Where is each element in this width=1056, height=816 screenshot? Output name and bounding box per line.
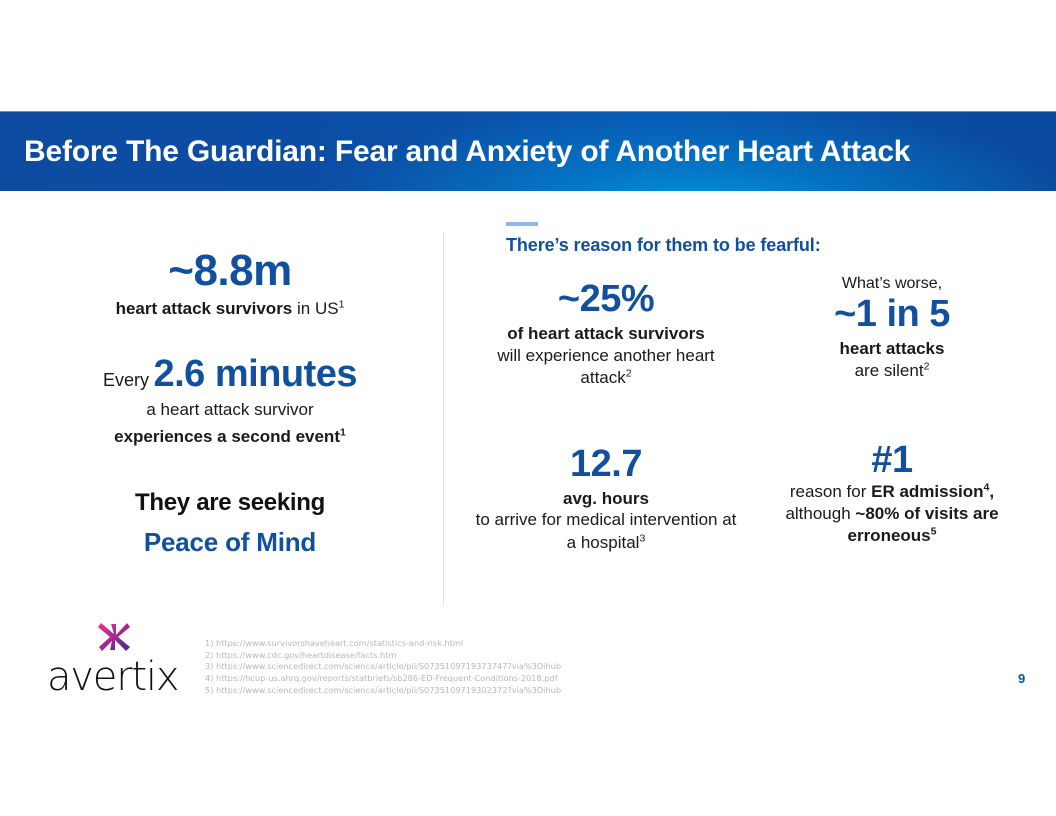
stat-number-1-caption-line2-regular: although	[785, 504, 855, 523]
stat-12-7-hours-caption-text: to arrive for medical intervention at a …	[476, 510, 737, 551]
stat-8-8m-footnote-ref: 1	[339, 299, 345, 311]
stat-2-6-caption-line2-text: experiences a second event	[114, 427, 340, 446]
stat-2-6-prefix: Every	[103, 370, 149, 390]
right-column-heading: There’s reason for them to be fearful:	[506, 235, 1036, 256]
stat-25-percent-value: ~25%	[470, 280, 742, 320]
footnote-item: 4) https://hcup-us.ahrq.gov/reports/stat…	[205, 673, 561, 685]
stat-2-6-minutes-block: Every 2.6 minutes a heart attack survivo…	[20, 355, 440, 449]
stat-1-in-5-footnote-ref: 2	[924, 360, 930, 372]
stat-2-6-caption-line2: experiences a second event1	[20, 426, 440, 449]
stat-8-8m-value: ~8.8m	[20, 248, 440, 294]
stat-number-1-reason-block: #1 reason for ER admission4, although ~8…	[756, 389, 1028, 554]
stat-number-1-caption-line2-ref: 5	[931, 525, 937, 537]
right-stats-column: There’s reason for them to be fearful: ~…	[470, 222, 1036, 554]
dash-accent-icon	[506, 222, 538, 226]
stat-2-6-minutes-value: 2.6 minutes	[153, 353, 357, 395]
footnote-item: 3) https://www.sciencedirect.com/science…	[205, 661, 561, 673]
stat-1-in-5-caption-text: are silent	[855, 361, 924, 380]
right-stats-grid: ~25% of heart attack survivors will expe…	[470, 274, 1036, 554]
stat-25-percent-caption-text: will experience another heart attack	[497, 346, 714, 387]
stat-number-1-caption-line1-tail: ,	[989, 482, 994, 501]
stat-12-7-hours-caption-bold: avg. hours	[470, 488, 742, 510]
column-divider	[443, 232, 444, 606]
footnote-list: 1) https://www.survivorshaveheart.com/st…	[205, 638, 561, 697]
avertix-wordmark: avertix	[47, 654, 178, 700]
stat-12-7-hours-caption-regular: to arrive for medical intervention at a …	[470, 509, 742, 553]
stat-2-6-minutes-headline: Every 2.6 minutes	[20, 355, 440, 395]
left-stats-column: ~8.8m heart attack survivors in US1 Ever…	[20, 248, 440, 558]
stat-1-in-5-block: What’s worse, ~1 in 5 heart attacks are …	[756, 274, 1028, 389]
closing-line-2: Peace of Mind	[20, 527, 440, 558]
closing-line-1: They are seeking	[20, 489, 440, 517]
stat-8-8m-caption: heart attack survivors in US1	[20, 298, 440, 319]
stat-8-8m-caption-regular: in US	[292, 299, 338, 318]
stat-1-in-5-prelabel: What’s worse,	[756, 274, 1028, 293]
footnote-item: 1) https://www.survivorshaveheart.com/st…	[205, 638, 561, 650]
stat-25-percent-caption-bold: of heart attack survivors	[470, 323, 742, 345]
stat-12-7-hours-block: 12.7 avg. hours to arrive for medical in…	[470, 389, 742, 554]
stat-1-in-5-caption-bold: heart attacks	[756, 338, 1028, 360]
stat-1-in-5-caption-regular: are silent2	[756, 360, 1028, 382]
page-title: Before The Guardian: Fear and Anxiety of…	[24, 135, 910, 169]
stat-number-1-caption-line1-regular: reason for	[790, 482, 871, 501]
stat-number-1-caption-line1-bold: ER admission	[871, 482, 983, 501]
stat-25-percent-block: ~25% of heart attack survivors will expe…	[470, 274, 742, 389]
closing-message-block: They are seeking Peace of Mind	[20, 489, 440, 558]
page-number: 9	[1018, 671, 1025, 686]
stat-number-1-reason-value: #1	[756, 441, 1028, 481]
stat-2-6-caption-line1: a heart attack survivor	[20, 399, 440, 422]
stat-8-8m-caption-bold: heart attack survivors	[116, 299, 293, 318]
stat-2-6-footnote-ref: 1	[340, 427, 346, 439]
slide-title-bar: Before The Guardian: Fear and Anxiety of…	[0, 111, 1056, 191]
stat-number-1-caption-line2-bold: ~80% of visits are erroneous	[848, 504, 999, 545]
stat-25-percent-footnote-ref: 2	[626, 367, 632, 379]
stat-number-1-reason-caption: reason for ER admission4, although ~80% …	[756, 481, 1028, 547]
stat-25-percent-caption-regular: will experience another heart attack2	[470, 345, 742, 389]
stat-1-in-5-value: ~1 in 5	[756, 295, 1028, 335]
stat-12-7-hours-footnote-ref: 3	[639, 532, 645, 544]
stat-8-8m-block: ~8.8m heart attack survivors in US1	[20, 248, 440, 319]
footnote-item: 2) https://www.cdc.gov/heartdisease/fact…	[205, 650, 561, 662]
stat-12-7-hours-value: 12.7	[470, 445, 742, 485]
avertix-logo: avertix	[47, 620, 197, 690]
footnote-item: 5) https://www.sciencedirect.com/science…	[205, 685, 561, 697]
